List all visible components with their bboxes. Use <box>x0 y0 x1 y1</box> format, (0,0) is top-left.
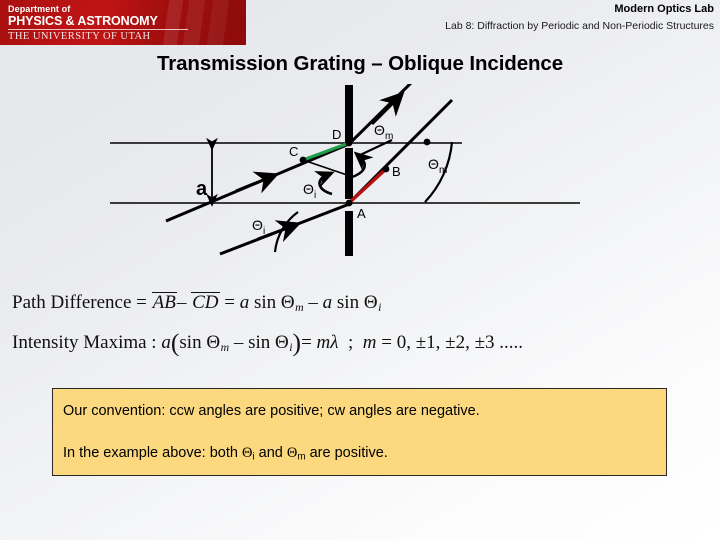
logo-divider <box>8 29 188 30</box>
course-title: Modern Optics Lab <box>614 3 714 15</box>
figure-label-a: A <box>357 206 366 221</box>
grating-bar <box>345 85 353 256</box>
eq1-sin-2: sin <box>337 292 359 313</box>
figure-label-spacing: a <box>196 178 208 200</box>
eq2-minus: – <box>234 332 244 353</box>
figure-label-c: C <box>289 144 298 159</box>
eq1-sin-1: sin <box>254 292 276 313</box>
note-theta-m-sub: m <box>297 451 305 462</box>
eq2-sin-1: sin <box>179 332 201 353</box>
eq1-a-2: a <box>323 292 333 313</box>
figure-label-theta-i-upper-sub: i <box>314 190 316 201</box>
eq2-semicolon: ; <box>348 332 353 353</box>
equation-intensity-maxima: Intensity Maxima : a(sin Θm – sin Θi)= m… <box>12 330 712 356</box>
figure-label-b: B <box>392 164 401 179</box>
lab-subtitle: Lab 8: Diffraction by Periodic and Non-P… <box>445 20 714 32</box>
incident-rays <box>166 144 352 254</box>
figure-label-theta-m-outer: Θ <box>428 156 439 172</box>
figure-label-theta-i-lower: Θ <box>252 217 263 233</box>
eq2-theta-1: Θ <box>206 332 220 353</box>
slide-root: Department of PHYSICS & ASTRONOMY THE UN… <box>0 0 720 540</box>
figure-label-theta-m-inner-sub: m <box>385 131 393 142</box>
eq1-a-1: a <box>240 292 250 313</box>
angle-indicator-arrows <box>320 157 365 194</box>
eq2-theta-1-sub: m <box>221 341 230 354</box>
eq2-m-2: m <box>363 332 377 353</box>
eq1-segment-ab: AB <box>152 292 177 313</box>
eq2-paren-close: ) <box>293 328 302 357</box>
eq1-theta-1: Θ <box>281 292 295 313</box>
note-theta-i: Θ <box>242 445 252 461</box>
eq1-equals: = <box>224 292 235 313</box>
eq2-values: 0, ±1, ±2, ±3 ..... <box>397 332 523 353</box>
figure-label-d: D <box>332 127 341 142</box>
figure-label-theta-i-upper: Θ <box>303 181 314 197</box>
logo-physics-astronomy-line: PHYSICS & ASTRONOMY <box>8 14 158 28</box>
eq2-sin-2: sin <box>248 332 270 353</box>
logo-university-line: THE UNIVERSITY OF UTAH <box>8 31 151 42</box>
note-line2-part3: are positive. <box>306 445 388 461</box>
figure-nodes <box>300 139 431 207</box>
eq1-segment-cd: CD <box>191 292 219 313</box>
eq1-theta-2: Θ <box>364 292 378 313</box>
convention-note-line-1: Our convention: ccw angles are positive;… <box>63 403 480 419</box>
eq1-minus-1: – <box>177 292 187 313</box>
eq2-equals: = <box>301 332 312 353</box>
eq2-a: a <box>161 332 171 353</box>
eq2-lambda: λ <box>330 332 338 353</box>
note-line2-part1: In the example above: both <box>63 445 242 461</box>
logo-department-line: Department of <box>8 4 70 14</box>
eq2-lead: Intensity Maxima : <box>12 332 157 353</box>
equations-block: Path Difference = AB– CD = a sin Θm – a … <box>12 292 712 356</box>
eq2-equals-2: = <box>381 332 392 353</box>
note-theta-m: Θ <box>287 445 297 461</box>
convention-note: Our convention: ccw angles are positive;… <box>52 388 667 476</box>
eq1-lead: Path Difference = <box>12 292 147 313</box>
grating-diagram: a <box>0 84 720 284</box>
figure-label-theta-i-lower-sub: i <box>263 226 265 237</box>
eq1-theta-2-sub: i <box>378 301 381 314</box>
eq2-m: m <box>317 332 331 353</box>
eq1-theta-1-sub: m <box>295 301 304 314</box>
convention-note-line-2: In the example above: both Θi and Θm are… <box>63 445 388 462</box>
university-logo: Department of PHYSICS & ASTRONOMY THE UN… <box>0 0 246 45</box>
figure-label-theta-m-inner: Θ <box>374 122 385 138</box>
eq2-theta-2: Θ <box>275 332 289 353</box>
page-title: Transmission Grating – Oblique Incidence <box>0 52 720 76</box>
equation-path-difference: Path Difference = AB– CD = a sin Θm – a … <box>12 292 712 314</box>
eq1-minus-2: – <box>308 292 318 313</box>
note-line2-part2: and <box>255 445 287 461</box>
figure-label-theta-m-outer-sub: m <box>439 165 447 176</box>
